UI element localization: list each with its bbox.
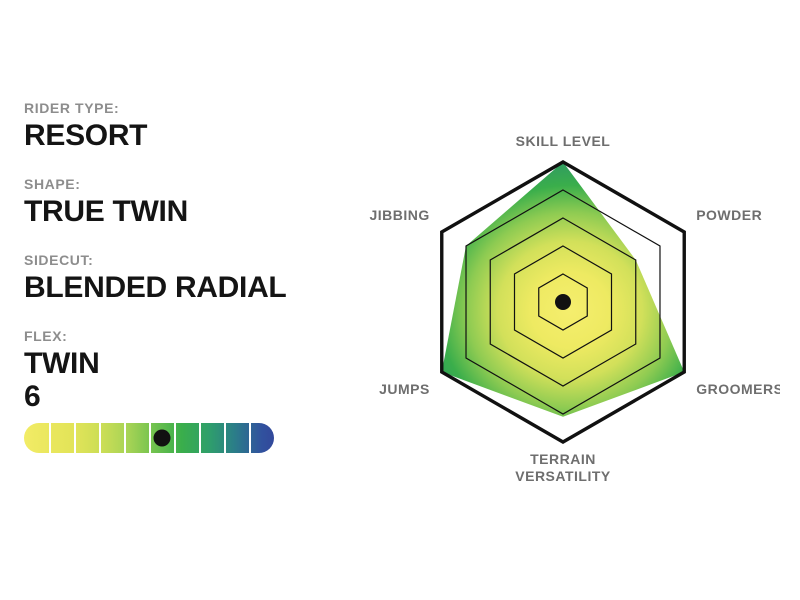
- spec-shape: SHAPE: TRUE TWIN: [24, 176, 364, 228]
- flex-slider-divider: [249, 423, 251, 453]
- axis-label-powder: POWDER: [696, 207, 762, 223]
- axis-label-skill-level: SKILL LEVEL: [516, 133, 611, 149]
- flex-slider-track: [24, 423, 274, 453]
- flex-slider-marker[interactable]: [153, 429, 170, 446]
- flex-slider-divider: [99, 423, 101, 453]
- radar-center-dot: [555, 294, 571, 310]
- specs-panel: RIDER TYPE: RESORT SHAPE: TRUE TWIN SIDE…: [24, 100, 364, 477]
- radar-chart-svg: SKILL LEVEL POWDER GROOMERS TERRAIN VERS…: [360, 110, 780, 510]
- axis-label-terrain-versatility-line2: VERSATILITY: [515, 468, 611, 484]
- radar-chart: SKILL LEVEL POWDER GROOMERS TERRAIN VERS…: [360, 110, 780, 510]
- axis-label-groomers: GROOMERS: [696, 381, 780, 397]
- flex-slider-divider: [149, 423, 151, 453]
- spec-rider-type: RIDER TYPE: RESORT: [24, 100, 364, 152]
- spec-label-rider-type: RIDER TYPE:: [24, 100, 364, 118]
- flex-slider-divider: [74, 423, 76, 453]
- spec-flex: FLEX: TWIN 6: [24, 328, 364, 453]
- axis-label-terrain-versatility-line1: TERRAIN: [530, 451, 596, 467]
- axis-label-jibbing: JIBBING: [370, 207, 430, 223]
- spec-sidecut: SIDECUT: BLENDED RADIAL: [24, 252, 364, 304]
- spec-label-sidecut: SIDECUT:: [24, 252, 364, 270]
- flex-slider[interactable]: [24, 423, 274, 453]
- radar-data-fill: [360, 110, 780, 510]
- flex-slider-divider: [124, 423, 126, 453]
- flex-rating-number: 6: [24, 380, 364, 414]
- spec-label-flex: FLEX:: [24, 328, 364, 346]
- spec-value-rider-type: RESORT: [24, 119, 364, 153]
- axis-label-jumps: JUMPS: [379, 381, 430, 397]
- spec-value-shape: TRUE TWIN: [24, 195, 364, 229]
- flex-slider-divider: [49, 423, 51, 453]
- spec-value-flex: TWIN: [24, 347, 364, 381]
- spec-value-sidecut: BLENDED RADIAL: [24, 271, 364, 305]
- spec-label-shape: SHAPE:: [24, 176, 364, 194]
- flex-slider-divider: [174, 423, 176, 453]
- flex-slider-divider: [199, 423, 201, 453]
- flex-slider-divider: [224, 423, 226, 453]
- radar-data-area: [360, 110, 780, 510]
